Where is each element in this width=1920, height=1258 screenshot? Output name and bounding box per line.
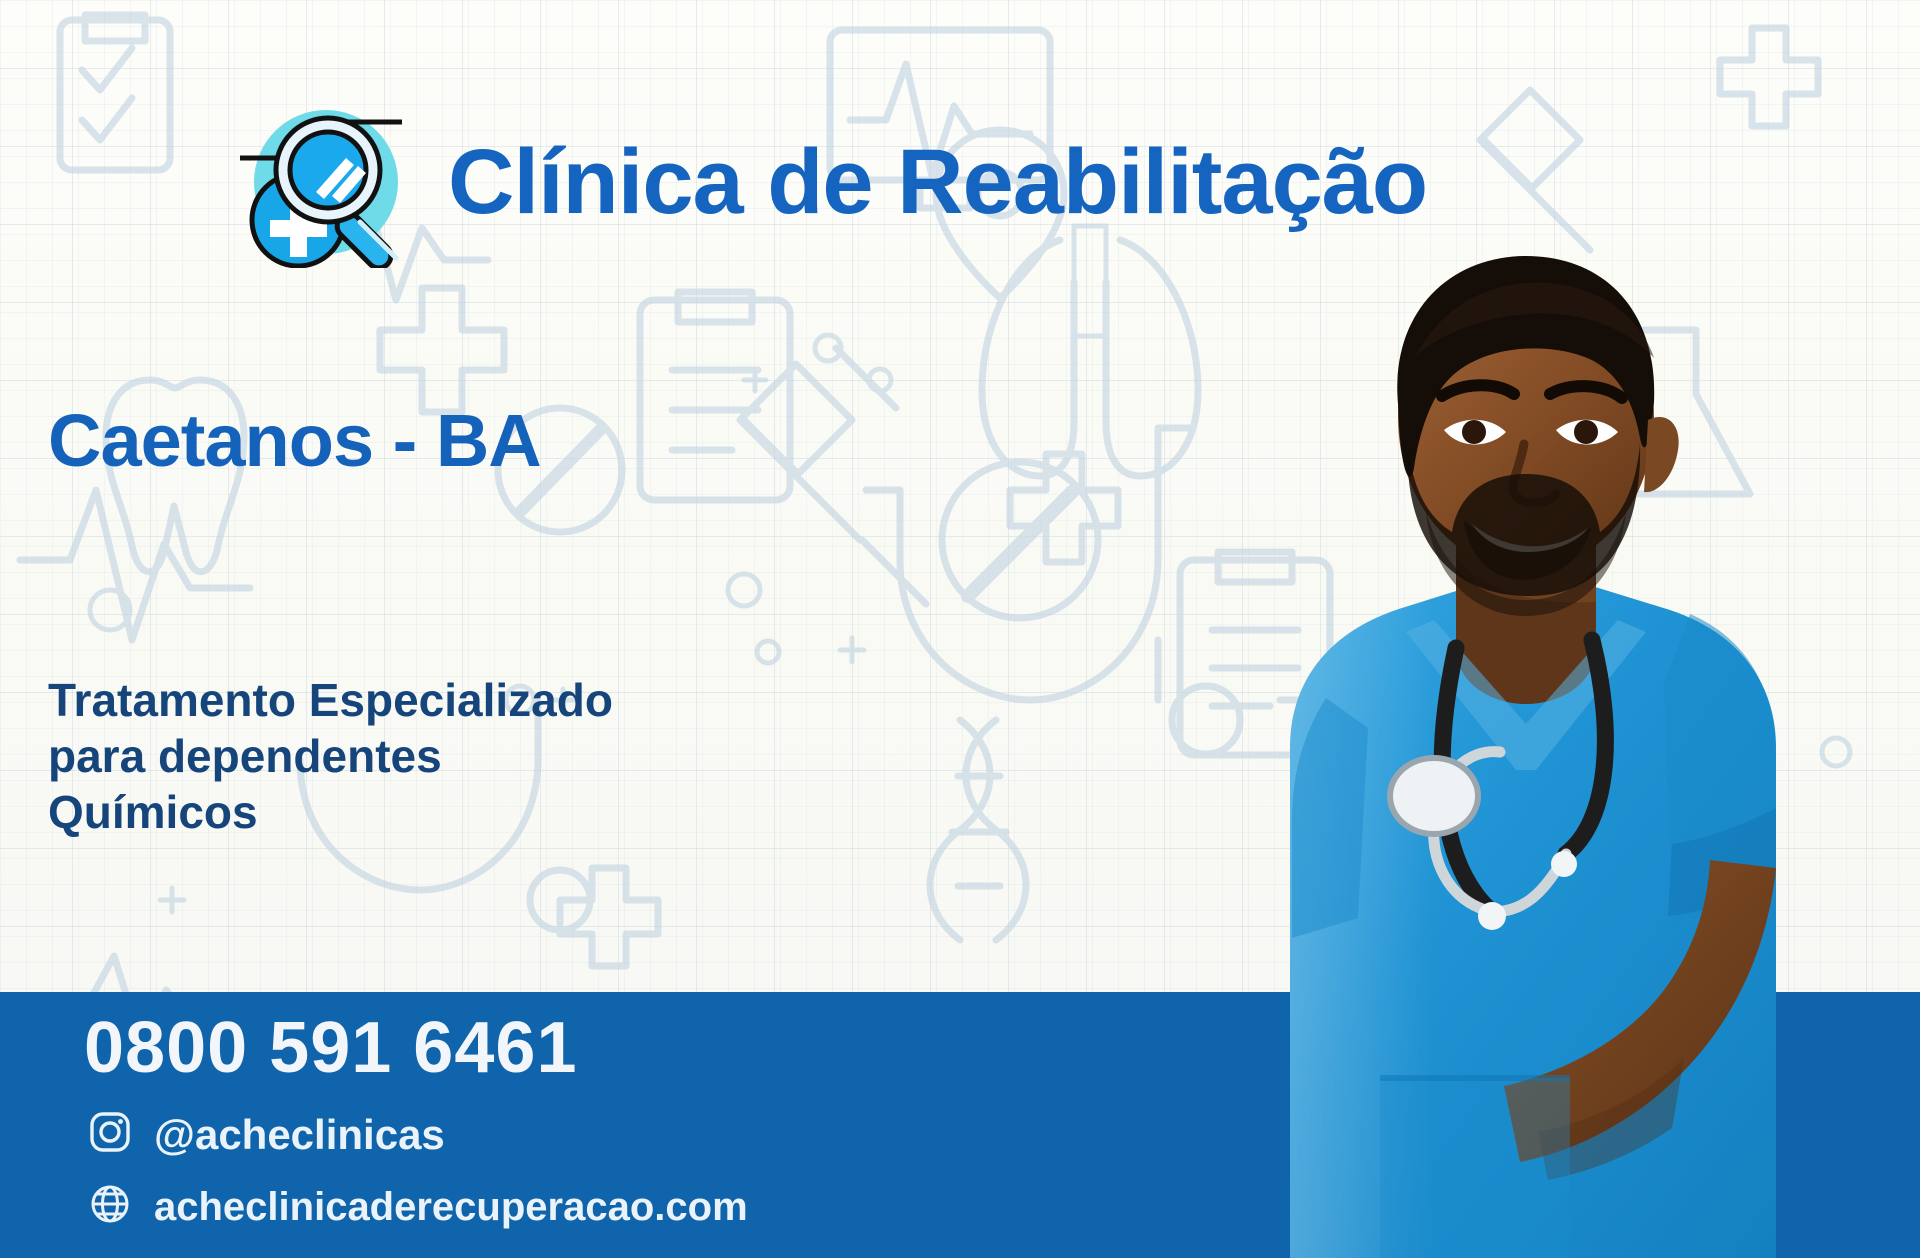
website-contact[interactable]: acheclinicaderecuperacao.com — [88, 1182, 748, 1231]
magnifier-plus-icon — [234, 96, 418, 268]
instagram-icon — [88, 1110, 132, 1159]
tagline-line-2: para dependentes — [48, 728, 613, 784]
clinic-advertisement-banner: Clínica de Reabilitação Caetanos - BA Tr… — [0, 0, 1920, 1258]
phone-number[interactable]: 0800 591 6461 — [84, 1012, 577, 1084]
website-url: acheclinicaderecuperacao.com — [154, 1187, 748, 1227]
instagram-contact[interactable]: @acheclinicas — [88, 1110, 445, 1159]
service-tagline: Tratamento Especializado para dependente… — [48, 672, 613, 840]
page-title: Clínica de Reabilitação — [448, 136, 1427, 228]
globe-icon — [88, 1182, 132, 1231]
tagline-line-1: Tratamento Especializado — [48, 672, 613, 728]
banner-header: Clínica de Reabilitação — [234, 96, 1427, 268]
tagline-line-3: Químicos — [48, 784, 613, 840]
city-state-heading: Caetanos - BA — [48, 404, 541, 478]
instagram-handle: @acheclinicas — [154, 1114, 445, 1156]
